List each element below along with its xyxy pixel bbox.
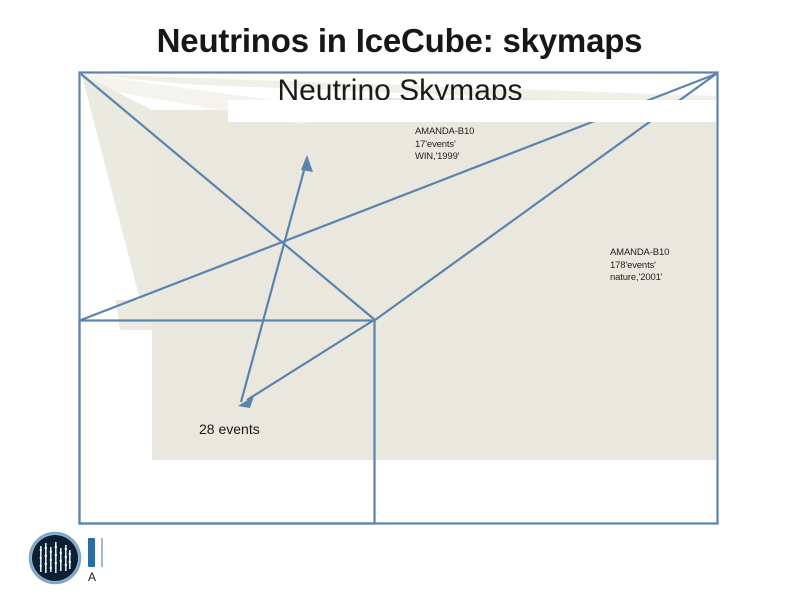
callout-line: AMANDA-B10 xyxy=(610,247,669,260)
icecube-logo xyxy=(27,530,83,586)
lower-white-band xyxy=(80,460,717,523)
callout-line: 178'events' xyxy=(610,260,669,273)
callout-line: WIN,'1999' xyxy=(415,151,474,164)
brand-bar-thin-icon xyxy=(101,538,103,567)
slide-canvas: Neutrinos in IceCube: skymaps xyxy=(0,0,799,600)
callout-amanda-b10-2001: AMANDA-B10 178'events' nature,'2001' xyxy=(610,247,669,285)
callout-line: 17'events' xyxy=(415,139,474,152)
subtitle-occlusion-band xyxy=(228,100,716,122)
brand-bar-thick-icon xyxy=(88,538,95,567)
brand-letter: A xyxy=(88,570,96,584)
events-count-label: 28 events xyxy=(199,421,260,437)
skymap-figure: Neutrino Skymaps AMANDA-B10 17'events' W… xyxy=(0,0,799,600)
callout-line: AMANDA-B10 xyxy=(415,126,474,139)
callout-line: nature,'2001' xyxy=(610,272,669,285)
callout-amanda-b10-1999: AMANDA-B10 17'events' WIN,'1999' xyxy=(415,126,474,164)
wedge-white-left-lower xyxy=(82,320,152,460)
